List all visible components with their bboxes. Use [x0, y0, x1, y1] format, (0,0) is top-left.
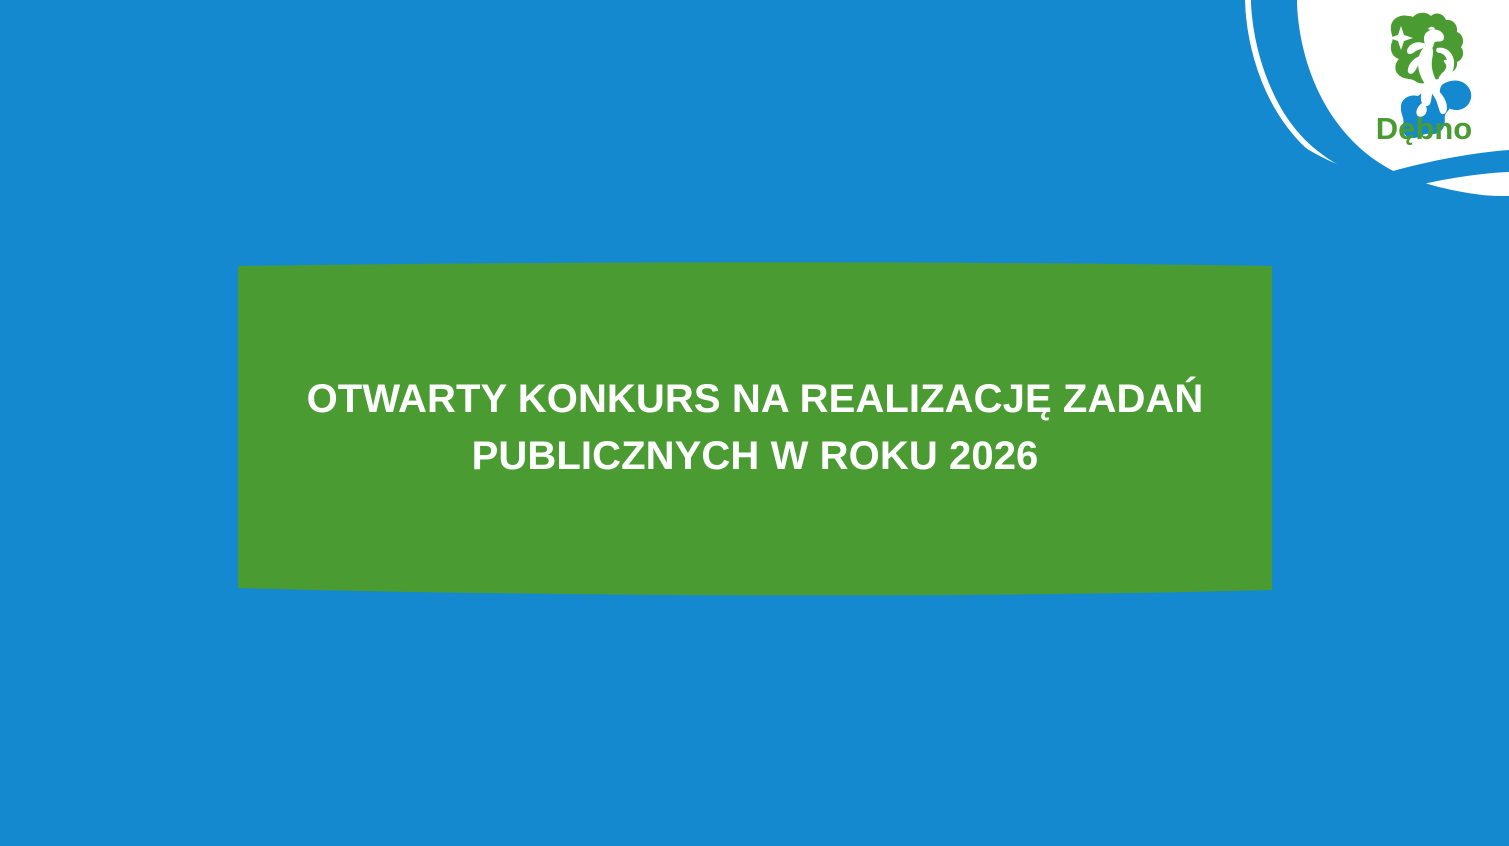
logo-wordmark: Dębno: [1376, 111, 1472, 146]
debno-logo: Dębno: [1361, 8, 1487, 148]
lower-wave-shape: [1379, 150, 1509, 190]
title-block: OTWARTY KONKURS NA REALIZACJĘ ZADAŃ PUBL…: [238, 265, 1272, 590]
page-title: OTWARTY KONKURS NA REALIZACJĘ ZADAŃ PUBL…: [307, 371, 1204, 485]
slide-canvas: OTWARTY KONKURS NA REALIZACJĘ ZADAŃ PUBL…: [0, 0, 1509, 846]
